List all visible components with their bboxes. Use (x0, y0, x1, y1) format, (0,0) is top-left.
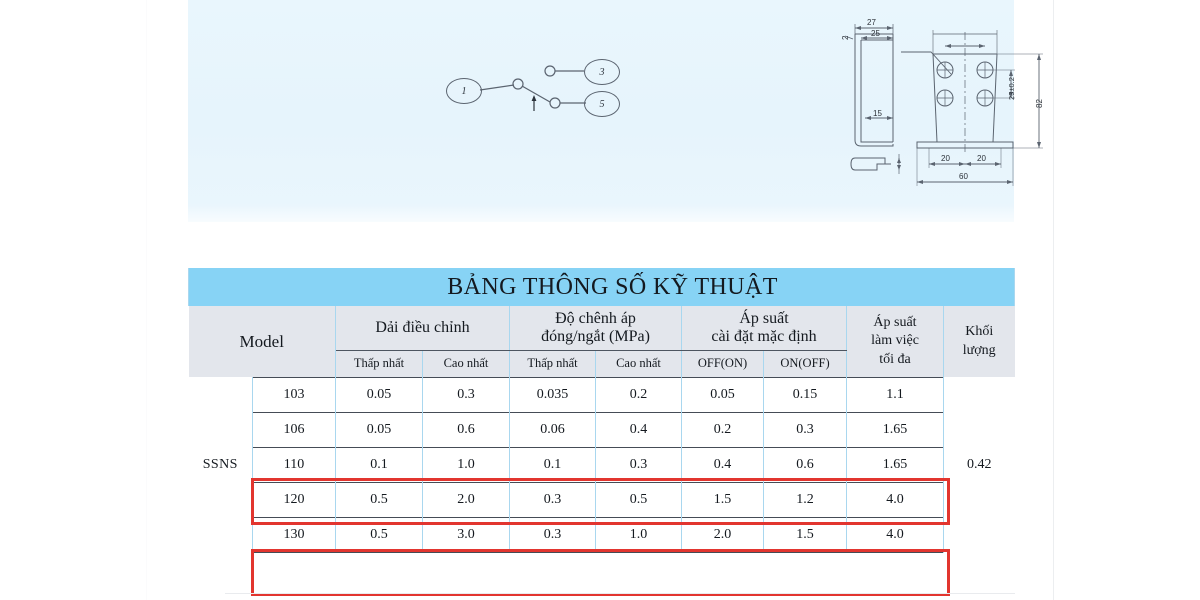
cell-max-pressure: 1.65 (847, 412, 944, 447)
dim-thickness: 2 (841, 36, 850, 40)
cell-diff-max: 0.4 (596, 412, 682, 447)
document-page: 1 3 5 (0, 0, 1200, 600)
cell-range-max: 3.0 (423, 517, 510, 552)
terminal-3: 3 (584, 59, 620, 85)
page-bottom-rule (225, 593, 1015, 594)
cell-range-min: 0.5 (336, 517, 423, 552)
cell-range-max: 2.0 (423, 482, 510, 517)
cell-range-max: 0.6 (423, 412, 510, 447)
header-weight: Khối lượng (944, 306, 1015, 377)
header-default-on-off: ON(OFF) (764, 350, 847, 377)
dim-hole-spacing-right: 20 (977, 154, 986, 163)
header-weight-line1: Khối (946, 323, 1013, 341)
cell-on-off: 1.5 (764, 517, 847, 552)
header-weight-line2: lượng (946, 342, 1013, 360)
header-max-working-pressure-line2: làm việc (849, 332, 941, 350)
header-differential-max: Cao nhất (596, 350, 682, 377)
cell-range-max: 1.0 (423, 447, 510, 482)
cell-on-off: 0.15 (764, 377, 847, 412)
cell-range-min: 0.05 (336, 377, 423, 412)
cell-diff-max: 1.0 (596, 517, 682, 552)
mounting-bracket-drawing: 27 25 2 15 23±0.2 82 20 20 60 (833, 12, 1073, 197)
cell-model: 110 (253, 447, 336, 482)
header-default-setting: Áp suất cài đặt mặc định (682, 306, 847, 350)
header-adjust-range: Dải điều chỉnh (336, 306, 510, 350)
diagram-panel: 1 3 5 (188, 0, 1014, 222)
cell-diff-max: 0.5 (596, 482, 682, 517)
cell-diff-min: 0.3 (510, 517, 596, 552)
header-differential-line2: đóng/ngắt (MPa) (512, 328, 679, 346)
table-title-row: BẢNG THÔNG SỐ KỸ THUẬT (189, 268, 1015, 306)
cell-range-min: 0.1 (336, 447, 423, 482)
table-row: SSNS 103 0.05 0.3 0.035 0.2 0.05 0.15 1.… (189, 377, 1015, 412)
table-row: 130 0.5 3.0 0.3 1.0 2.0 1.5 4.0 (189, 517, 1015, 552)
dim-outer-width: 27 (867, 18, 876, 27)
table-row: 110 0.1 1.0 0.1 0.3 0.4 0.6 1.65 (189, 447, 1015, 482)
header-default-setting-line1: Áp suất (684, 310, 844, 328)
header-max-working-pressure-line3: tối đa (849, 351, 941, 369)
header-group-row: Model Dải điều chỉnh Độ chênh áp đóng/ng… (189, 306, 1015, 350)
cell-max-pressure: 4.0 (847, 517, 944, 552)
header-max-working-pressure-line1: Áp suất (849, 314, 941, 332)
cell-model: 130 (253, 517, 336, 552)
cell-diff-min: 0.035 (510, 377, 596, 412)
table-body: SSNS 103 0.05 0.3 0.035 0.2 0.05 0.15 1.… (189, 377, 1015, 552)
header-default-off-on: OFF(ON) (682, 350, 764, 377)
cell-diff-max: 0.3 (596, 447, 682, 482)
cell-diff-min: 0.3 (510, 482, 596, 517)
table-row: 106 0.05 0.6 0.06 0.4 0.2 0.3 1.65 (189, 412, 1015, 447)
specification-table: BẢNG THÔNG SỐ KỸ THUẬT Model Dải điều ch… (188, 268, 1015, 553)
cell-diff-min: 0.1 (510, 447, 596, 482)
table-title: BẢNG THÔNG SỐ KỸ THUẬT (189, 268, 1015, 306)
cell-range-min: 0.5 (336, 482, 423, 517)
cell-max-pressure: 1.65 (847, 447, 944, 482)
cell-on-off: 1.2 (764, 482, 847, 517)
cell-on-off: 0.3 (764, 412, 847, 447)
cell-max-pressure: 1.1 (847, 377, 944, 412)
cell-off-on: 0.05 (682, 377, 764, 412)
terminal-1-label: 1 (462, 86, 467, 97)
header-max-working-pressure: Áp suất làm việc tối đa (847, 306, 944, 377)
header-differential: Độ chênh áp đóng/ngắt (MPa) (510, 306, 682, 350)
cell-model: 106 (253, 412, 336, 447)
table-row: 120 0.5 2.0 0.3 0.5 1.5 1.2 4.0 (189, 482, 1015, 517)
cell-off-on: 1.5 (682, 482, 764, 517)
dim-hole-spacing-vertical: 23±0.2 (1007, 77, 1016, 100)
dim-overall-height: 82 (1035, 99, 1044, 108)
dim-hole-spacing-left: 20 (941, 154, 950, 163)
terminal-5-label: 5 (600, 99, 605, 110)
terminal-3-label: 3 (600, 67, 605, 78)
switch-contact-diagram: 1 3 5 (446, 55, 626, 125)
cell-diff-min: 0.06 (510, 412, 596, 447)
cell-model: 120 (253, 482, 336, 517)
cell-model: 103 (253, 377, 336, 412)
dim-base-width: 60 (959, 172, 968, 181)
weight-cell: 0.42 (944, 377, 1015, 552)
cell-diff-max: 0.2 (596, 377, 682, 412)
header-differential-min: Thấp nhất (510, 350, 596, 377)
brand-cell: SSNS (189, 377, 253, 552)
header-adjust-range-max: Cao nhất (423, 350, 510, 377)
cell-range-min: 0.05 (336, 412, 423, 447)
terminal-1: 1 (446, 78, 482, 104)
terminal-5: 5 (584, 91, 620, 117)
cell-off-on: 2.0 (682, 517, 764, 552)
cell-on-off: 0.6 (764, 447, 847, 482)
header-adjust-range-label: Dải điều chỉnh (375, 319, 469, 336)
header-default-setting-line2: cài đặt mặc định (684, 328, 844, 346)
header-differential-line1: Độ chênh áp (512, 310, 679, 328)
cell-range-max: 0.3 (423, 377, 510, 412)
header-model: Model (189, 306, 336, 377)
cell-off-on: 0.4 (682, 447, 764, 482)
row-highlight-130 (251, 549, 950, 596)
header-adjust-range-min: Thấp nhất (336, 350, 423, 377)
dim-inner-width: 25 (871, 29, 880, 38)
cell-off-on: 0.2 (682, 412, 764, 447)
page-left-edge (146, 0, 147, 600)
dim-tab-height: 15 (873, 109, 882, 118)
cell-max-pressure: 4.0 (847, 482, 944, 517)
